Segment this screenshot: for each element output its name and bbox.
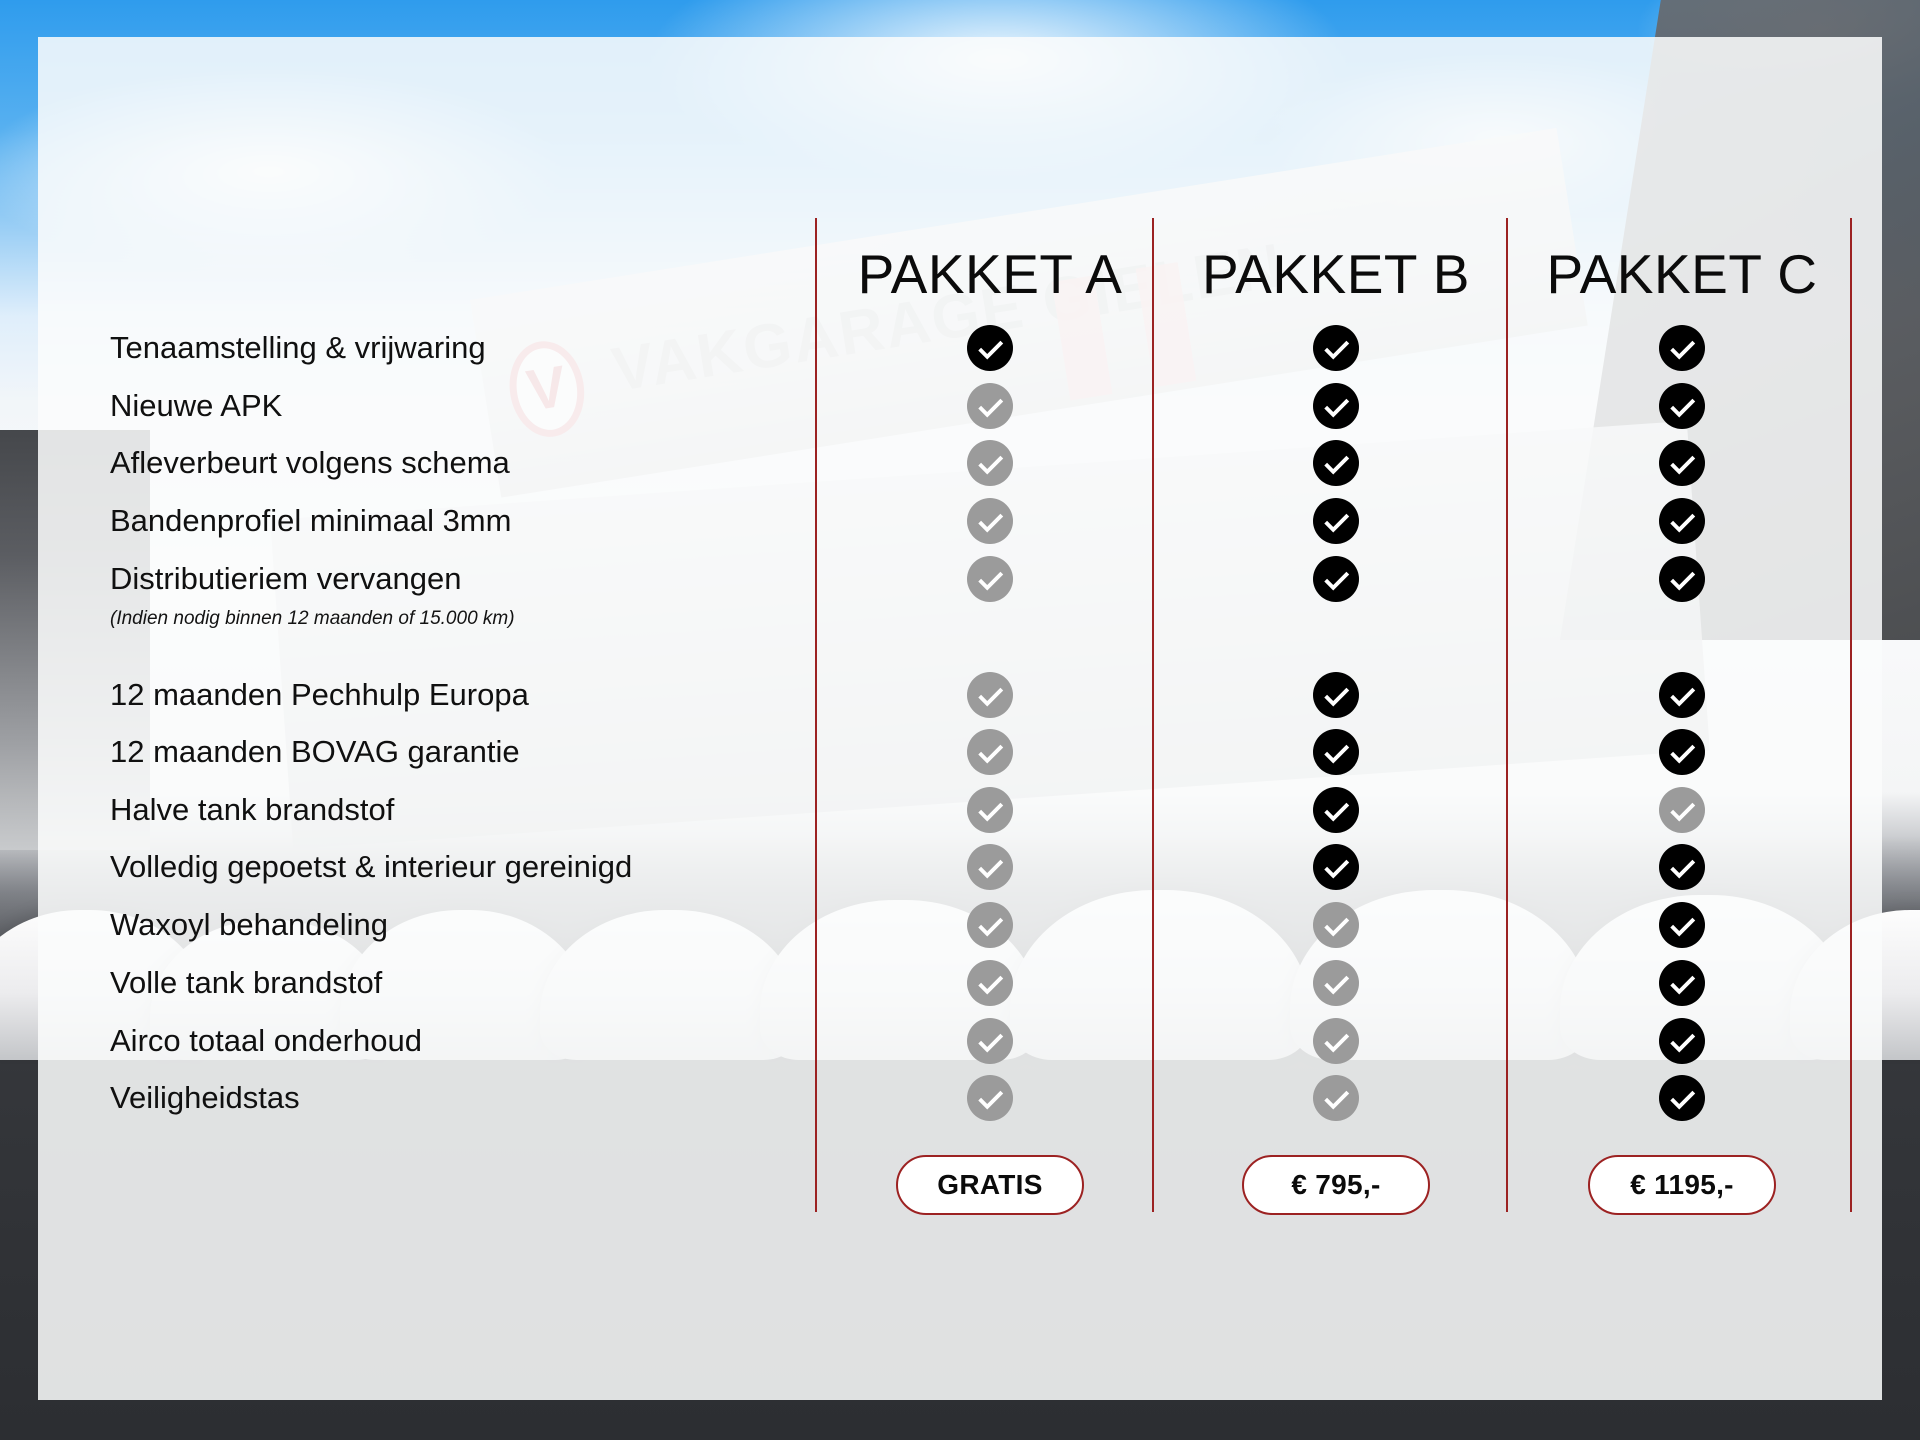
check-icon-b-included <box>1313 729 1359 775</box>
check-icon-c-included <box>1659 383 1705 429</box>
check-icon-b-included <box>1313 383 1359 429</box>
check-icon-c-included <box>1659 1075 1705 1121</box>
feature-label: Volledig gepoetst & interieur gereinigd <box>110 851 632 882</box>
check-icon-b-included <box>1313 325 1359 371</box>
feature-label: Airco totaal onderhoud <box>110 1025 422 1056</box>
check-icon-c-included <box>1659 844 1705 890</box>
check-icon-c-included <box>1659 729 1705 775</box>
check-icon-a-excluded <box>967 960 1013 1006</box>
check-icon-b-included <box>1313 787 1359 833</box>
feature-label: Waxoyl behandeling <box>110 909 388 940</box>
check-icon-b-included <box>1313 844 1359 890</box>
feature-label: 12 maanden Pechhulp Europa <box>110 679 529 710</box>
check-icon-a-excluded <box>967 1075 1013 1121</box>
check-icon-a-excluded <box>967 672 1013 718</box>
price-button-b[interactable]: € 795,- <box>1242 1155 1430 1215</box>
check-icon-b-included <box>1313 498 1359 544</box>
check-icon-b-excluded <box>1313 960 1359 1006</box>
feature-note: (Indien nodig binnen 12 maanden of 15.00… <box>110 608 515 630</box>
check-icon-c-included <box>1659 440 1705 486</box>
check-icon-b-included <box>1313 440 1359 486</box>
check-icon-b-excluded <box>1313 902 1359 948</box>
check-icon-c-included <box>1659 498 1705 544</box>
check-icon-a-included <box>967 325 1013 371</box>
feature-label: Halve tank brandstof <box>110 794 394 825</box>
check-icon-c-included <box>1659 325 1705 371</box>
check-icon-c-included <box>1659 672 1705 718</box>
comparison-panel: PAKKET APAKKET BPAKKET C Tenaamstelling … <box>38 37 1882 1400</box>
feature-label: Bandenprofiel minimaal 3mm <box>110 505 511 536</box>
check-icon-b-excluded <box>1313 1018 1359 1064</box>
check-icon-b-included <box>1313 672 1359 718</box>
feature-label: Afleverbeurt volgens schema <box>110 447 510 478</box>
feature-label: Nieuwe APK <box>110 390 282 421</box>
check-icon-b-excluded <box>1313 1075 1359 1121</box>
feature-label: Tenaamstelling & vrijwaring <box>110 332 486 363</box>
feature-label: 12 maanden BOVAG garantie <box>110 736 520 767</box>
feature-label: Veiligheidstas <box>110 1082 300 1113</box>
check-icon-c-included <box>1659 960 1705 1006</box>
check-icon-a-excluded <box>967 498 1013 544</box>
check-icon-c-excluded <box>1659 787 1705 833</box>
check-icon-a-excluded <box>967 787 1013 833</box>
check-icon-a-excluded <box>967 383 1013 429</box>
check-icon-c-included <box>1659 902 1705 948</box>
check-icon-a-excluded <box>967 902 1013 948</box>
feature-label: Volle tank brandstof <box>110 967 382 998</box>
check-icon-c-included <box>1659 556 1705 602</box>
check-icon-c-included <box>1659 1018 1705 1064</box>
check-icon-a-excluded <box>967 844 1013 890</box>
feature-label: Distributieriem vervangen <box>110 563 461 594</box>
check-icon-a-excluded <box>967 556 1013 602</box>
price-button-c[interactable]: € 1195,- <box>1588 1155 1776 1215</box>
check-icon-b-included <box>1313 556 1359 602</box>
price-button-a[interactable]: GRATIS <box>896 1155 1084 1215</box>
check-icon-a-excluded <box>967 729 1013 775</box>
check-icon-a-excluded <box>967 1018 1013 1064</box>
check-icon-a-excluded <box>967 440 1013 486</box>
